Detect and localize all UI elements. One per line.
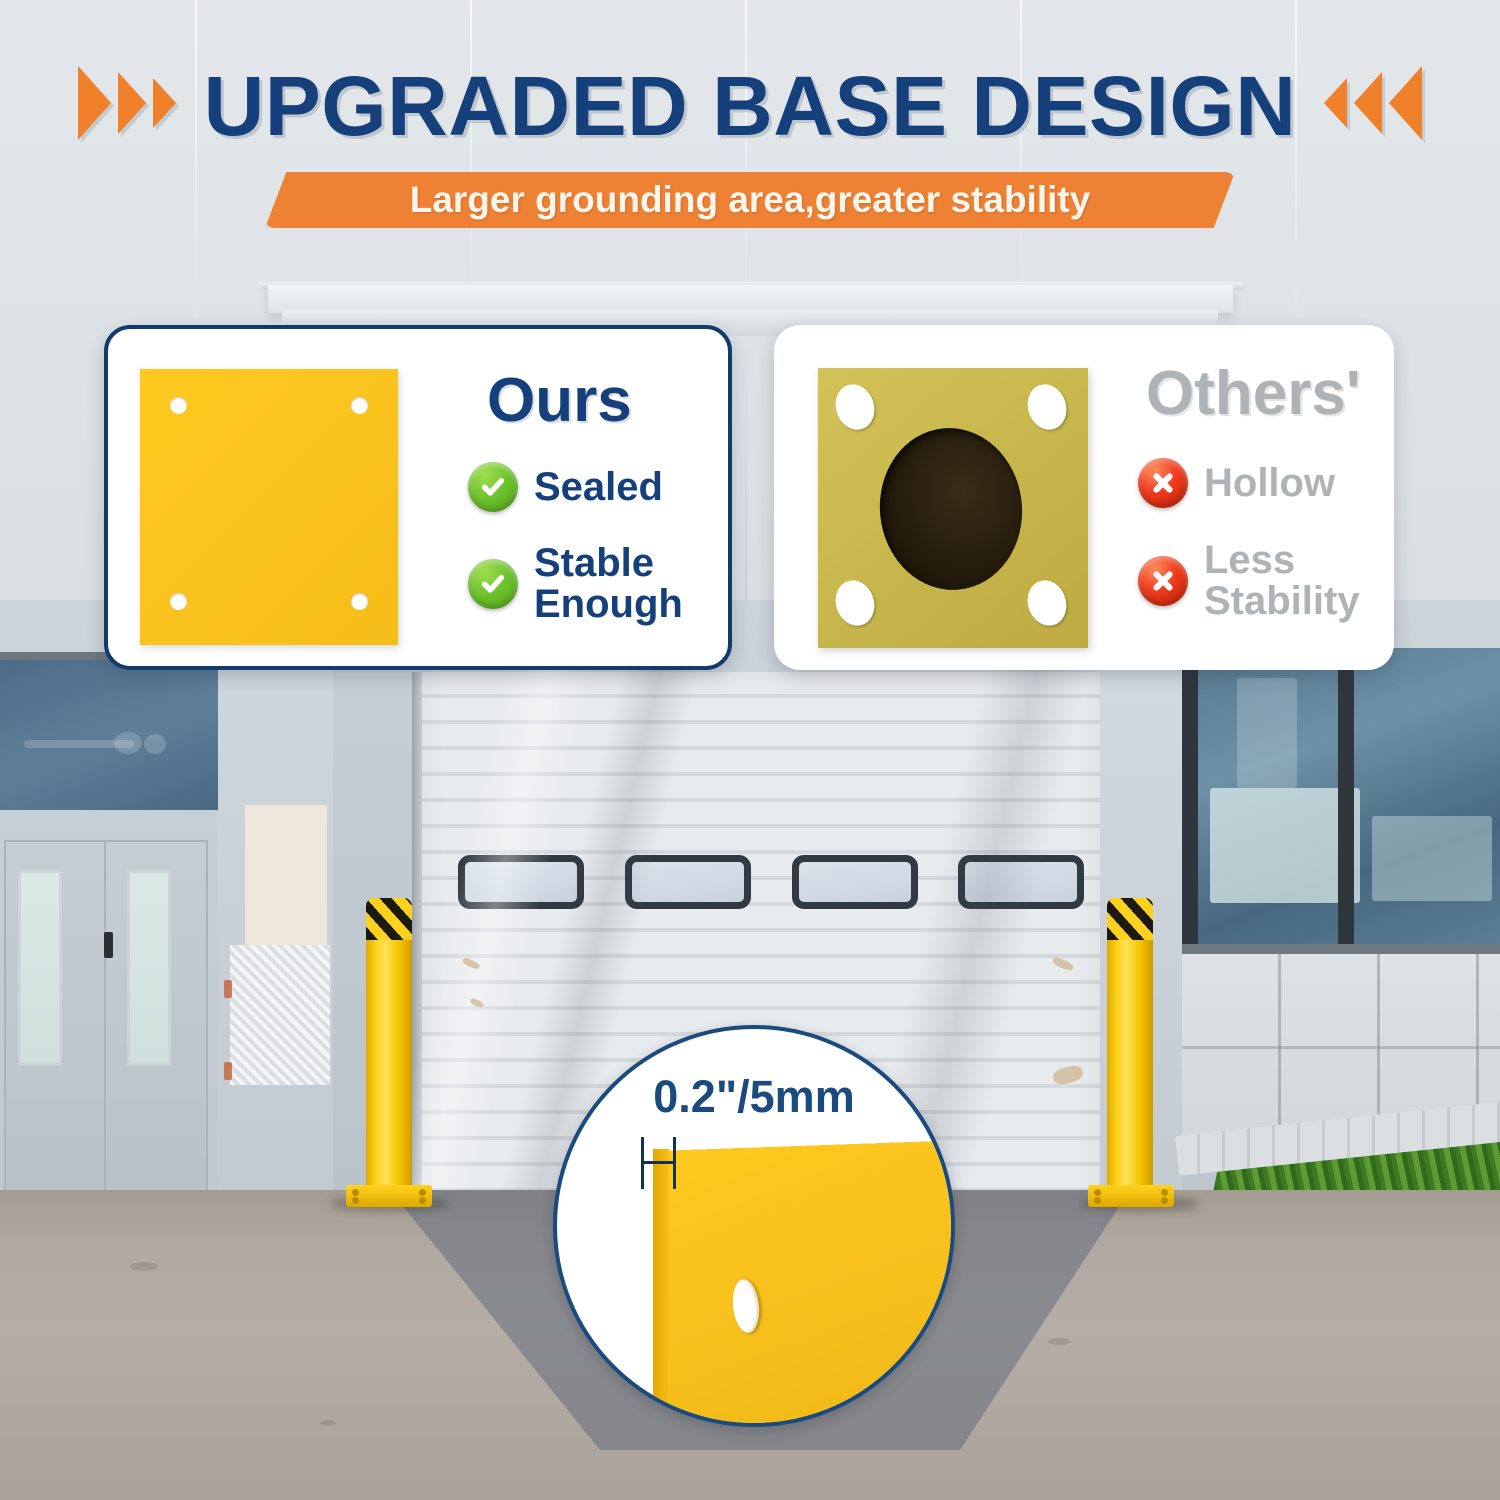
chevron-left-icon: [1324, 78, 1347, 128]
check-circle-icon: [468, 559, 518, 609]
shutter-window: [792, 855, 918, 909]
ours-feature-label: Stable Enough: [534, 543, 683, 625]
ours-feature-1: Sealed: [468, 462, 663, 512]
glass-reflection: [1372, 816, 1492, 901]
safety-bollard-left: [366, 900, 412, 1200]
x-circle-icon: [1138, 556, 1188, 606]
header: UPGRADED BASE DESIGN Larger grounding ar…: [0, 0, 1500, 250]
wall-checker-plate: [230, 945, 330, 1085]
base-bolt-hole: [419, 1189, 426, 1196]
others-feature-1: Hollow: [1138, 458, 1335, 508]
curtain-wall-sill: [1182, 944, 1500, 954]
rust-mark: [224, 980, 232, 998]
shutter-track-left: [412, 672, 422, 1230]
thickness-callout-circle: 0.2"/5mm: [553, 1025, 955, 1427]
thickness-label: 0.2"/5mm: [557, 1071, 951, 1123]
others-feature-label: Hollow: [1204, 463, 1335, 504]
ours-feature-2: Stable Enough: [468, 543, 683, 625]
plate-bolt-hole: [1022, 575, 1072, 630]
plate-bolt-hole: [351, 397, 368, 414]
ground-speck: [320, 1420, 336, 1426]
plate-bolt-hole: [830, 575, 880, 630]
page-title: UPGRADED BASE DESIGN: [0, 58, 1500, 155]
window-mullion: [1182, 648, 1198, 948]
base-bolt-hole: [1161, 1197, 1168, 1204]
base-bolt-hole: [1094, 1189, 1101, 1196]
wall-beige-panel: [245, 805, 327, 945]
bollard-cap: [366, 898, 412, 940]
base-bolt-hole: [419, 1197, 426, 1204]
ours-feature-label: Sealed: [534, 467, 663, 508]
bollard-base-plate-left: [346, 1185, 432, 1207]
chevrons-right-group: [1324, 66, 1422, 140]
ours-title: Ours: [487, 365, 632, 436]
door-glass-panel: [18, 870, 62, 1066]
shutter-window: [958, 855, 1084, 909]
rust-mark: [224, 1062, 232, 1080]
plate-bolt-hole: [170, 593, 187, 610]
window-mullion: [1338, 648, 1354, 948]
plate-bolt-hole: [1022, 379, 1072, 434]
bollard-cap: [1107, 898, 1153, 940]
hazard-stripe-icon: [1107, 898, 1153, 940]
ours-base-plate-image: [140, 369, 398, 645]
base-bolt-hole: [352, 1197, 359, 1204]
others-feature-2: Less Stability: [1138, 540, 1360, 622]
thickness-caliper-icon: [641, 1137, 679, 1189]
base-bolt-hole: [352, 1189, 359, 1196]
hazard-stripe-icon: [366, 898, 412, 940]
chevron-left-icon: [1354, 72, 1382, 134]
bollard-base-plate-right: [1088, 1185, 1174, 1207]
others-feature-label: Less Stability: [1204, 540, 1360, 622]
glass-reflection: [1237, 678, 1297, 788]
base-bolt-hole: [1094, 1197, 1101, 1204]
subtitle-text: Larger grounding area,greater stability: [265, 172, 1235, 228]
product-infographic: UPGRADED BASE DESIGN Larger grounding ar…: [0, 0, 1500, 1500]
plate-bolt-hole: [170, 397, 187, 414]
plate-top-face: [668, 1139, 955, 1427]
x-circle-icon: [1138, 458, 1188, 508]
plate-bolt-hole: [830, 379, 880, 434]
shutter-window: [458, 855, 584, 909]
chevron-left-icon: [1389, 66, 1422, 140]
plate-bolt-hole: [351, 593, 368, 610]
safety-bollard-right: [1107, 900, 1153, 1200]
entrance-canopy: [268, 285, 1233, 313]
ground-speck: [1048, 1338, 1070, 1345]
glass-reflection: [24, 740, 134, 748]
shutter-window: [625, 855, 751, 909]
base-bolt-hole: [1161, 1189, 1168, 1196]
door-handle: [104, 932, 113, 958]
others-title: Others': [1146, 358, 1361, 429]
ground-speck: [130, 1262, 158, 1271]
door-glass-panel: [127, 870, 171, 1066]
glass-reflection: [144, 734, 166, 754]
check-circle-icon: [468, 462, 518, 512]
plate-edge-face: [653, 1149, 669, 1427]
